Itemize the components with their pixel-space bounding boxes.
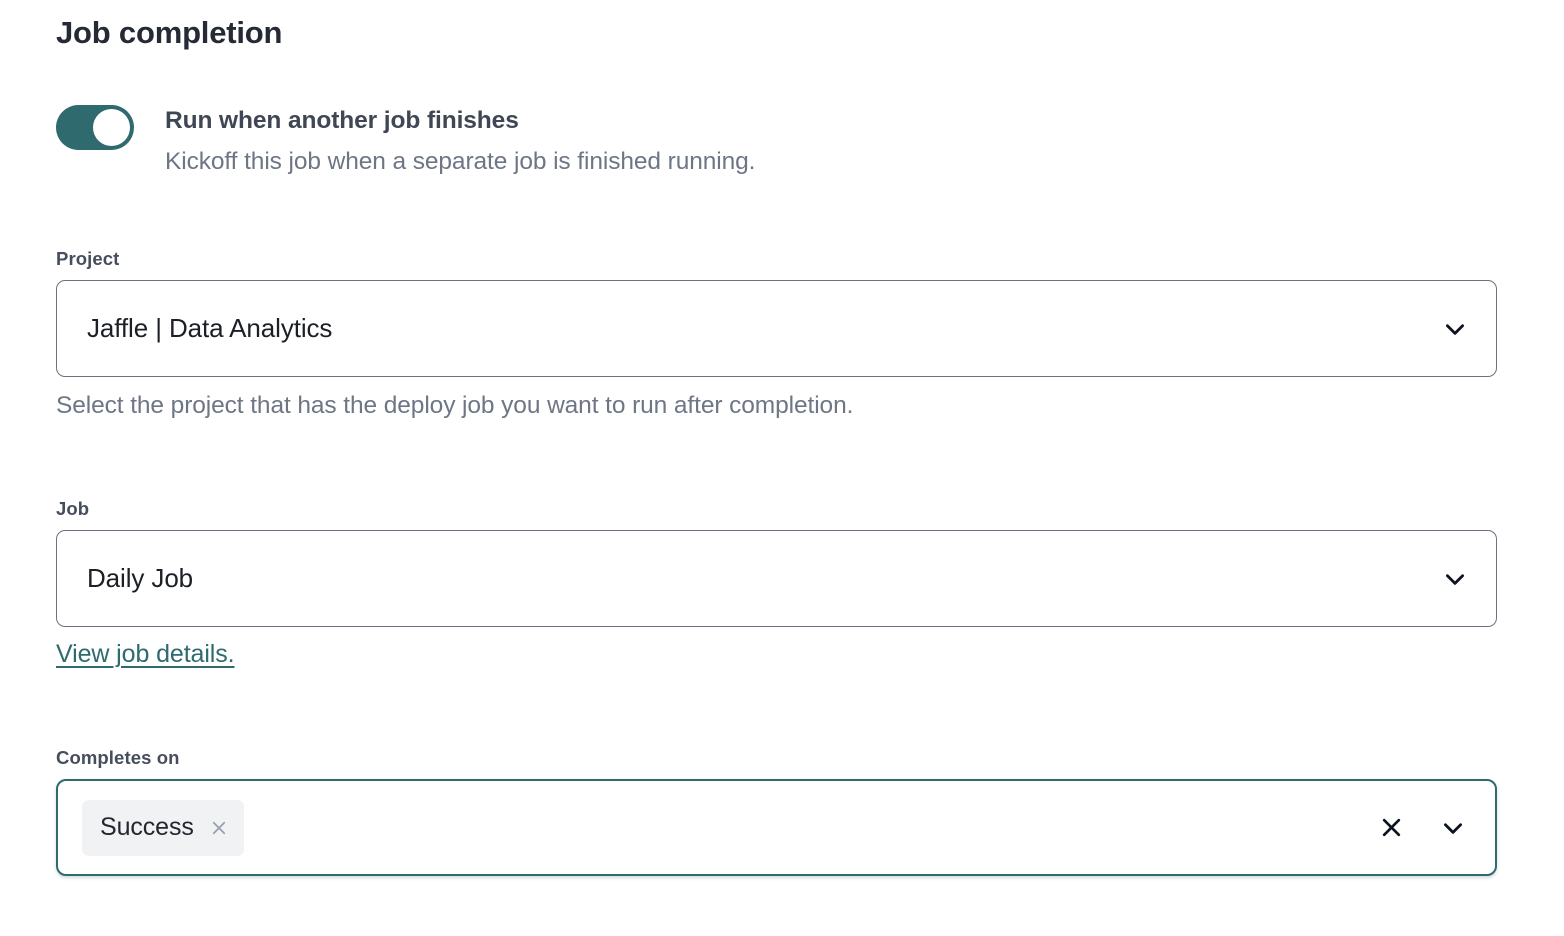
run-when-job-finishes-row: Run when another job finishes Kickoff th… xyxy=(56,104,755,177)
job-completion-panel: Job completion Run when another job fini… xyxy=(0,0,1564,936)
project-label: Project xyxy=(56,248,1497,270)
job-label: Job xyxy=(56,498,1497,520)
toggle-description: Kickoff this job when a separate job is … xyxy=(165,147,755,178)
project-field-group: Project Jaffle | Data Analytics Select t… xyxy=(56,248,1497,422)
chevron-down-icon[interactable] xyxy=(1440,314,1470,344)
job-select-value: Daily Job xyxy=(87,563,1440,594)
close-icon[interactable] xyxy=(1377,814,1405,842)
completes-on-field-group: Completes on Success xyxy=(56,747,1497,876)
job-field-group: Job Daily Job View job details. xyxy=(56,498,1497,669)
toggle-label: Run when another job finishes xyxy=(165,106,755,137)
toggle-text-block: Run when another job finishes Kickoff th… xyxy=(165,104,755,177)
close-icon[interactable] xyxy=(208,817,230,839)
completes-on-multiselect[interactable]: Success xyxy=(56,779,1497,876)
completes-on-actions xyxy=(1377,814,1473,842)
project-select-value: Jaffle | Data Analytics xyxy=(87,313,1440,344)
project-help-text: Select the project that has the deploy j… xyxy=(56,391,1497,422)
view-job-details-link[interactable]: View job details. xyxy=(56,640,235,669)
chevron-down-icon[interactable] xyxy=(1439,814,1467,842)
tag-label: Success xyxy=(100,813,194,842)
tag-success: Success xyxy=(82,800,244,856)
toggle-knob xyxy=(93,109,130,146)
page-title: Job completion xyxy=(56,14,282,51)
project-select[interactable]: Jaffle | Data Analytics xyxy=(56,280,1497,377)
completes-on-tag-list: Success xyxy=(82,800,1377,856)
completes-on-label: Completes on xyxy=(56,747,1497,769)
chevron-down-icon[interactable] xyxy=(1440,564,1470,594)
run-when-another-job-finishes-toggle[interactable] xyxy=(56,105,134,150)
job-select[interactable]: Daily Job xyxy=(56,530,1497,627)
